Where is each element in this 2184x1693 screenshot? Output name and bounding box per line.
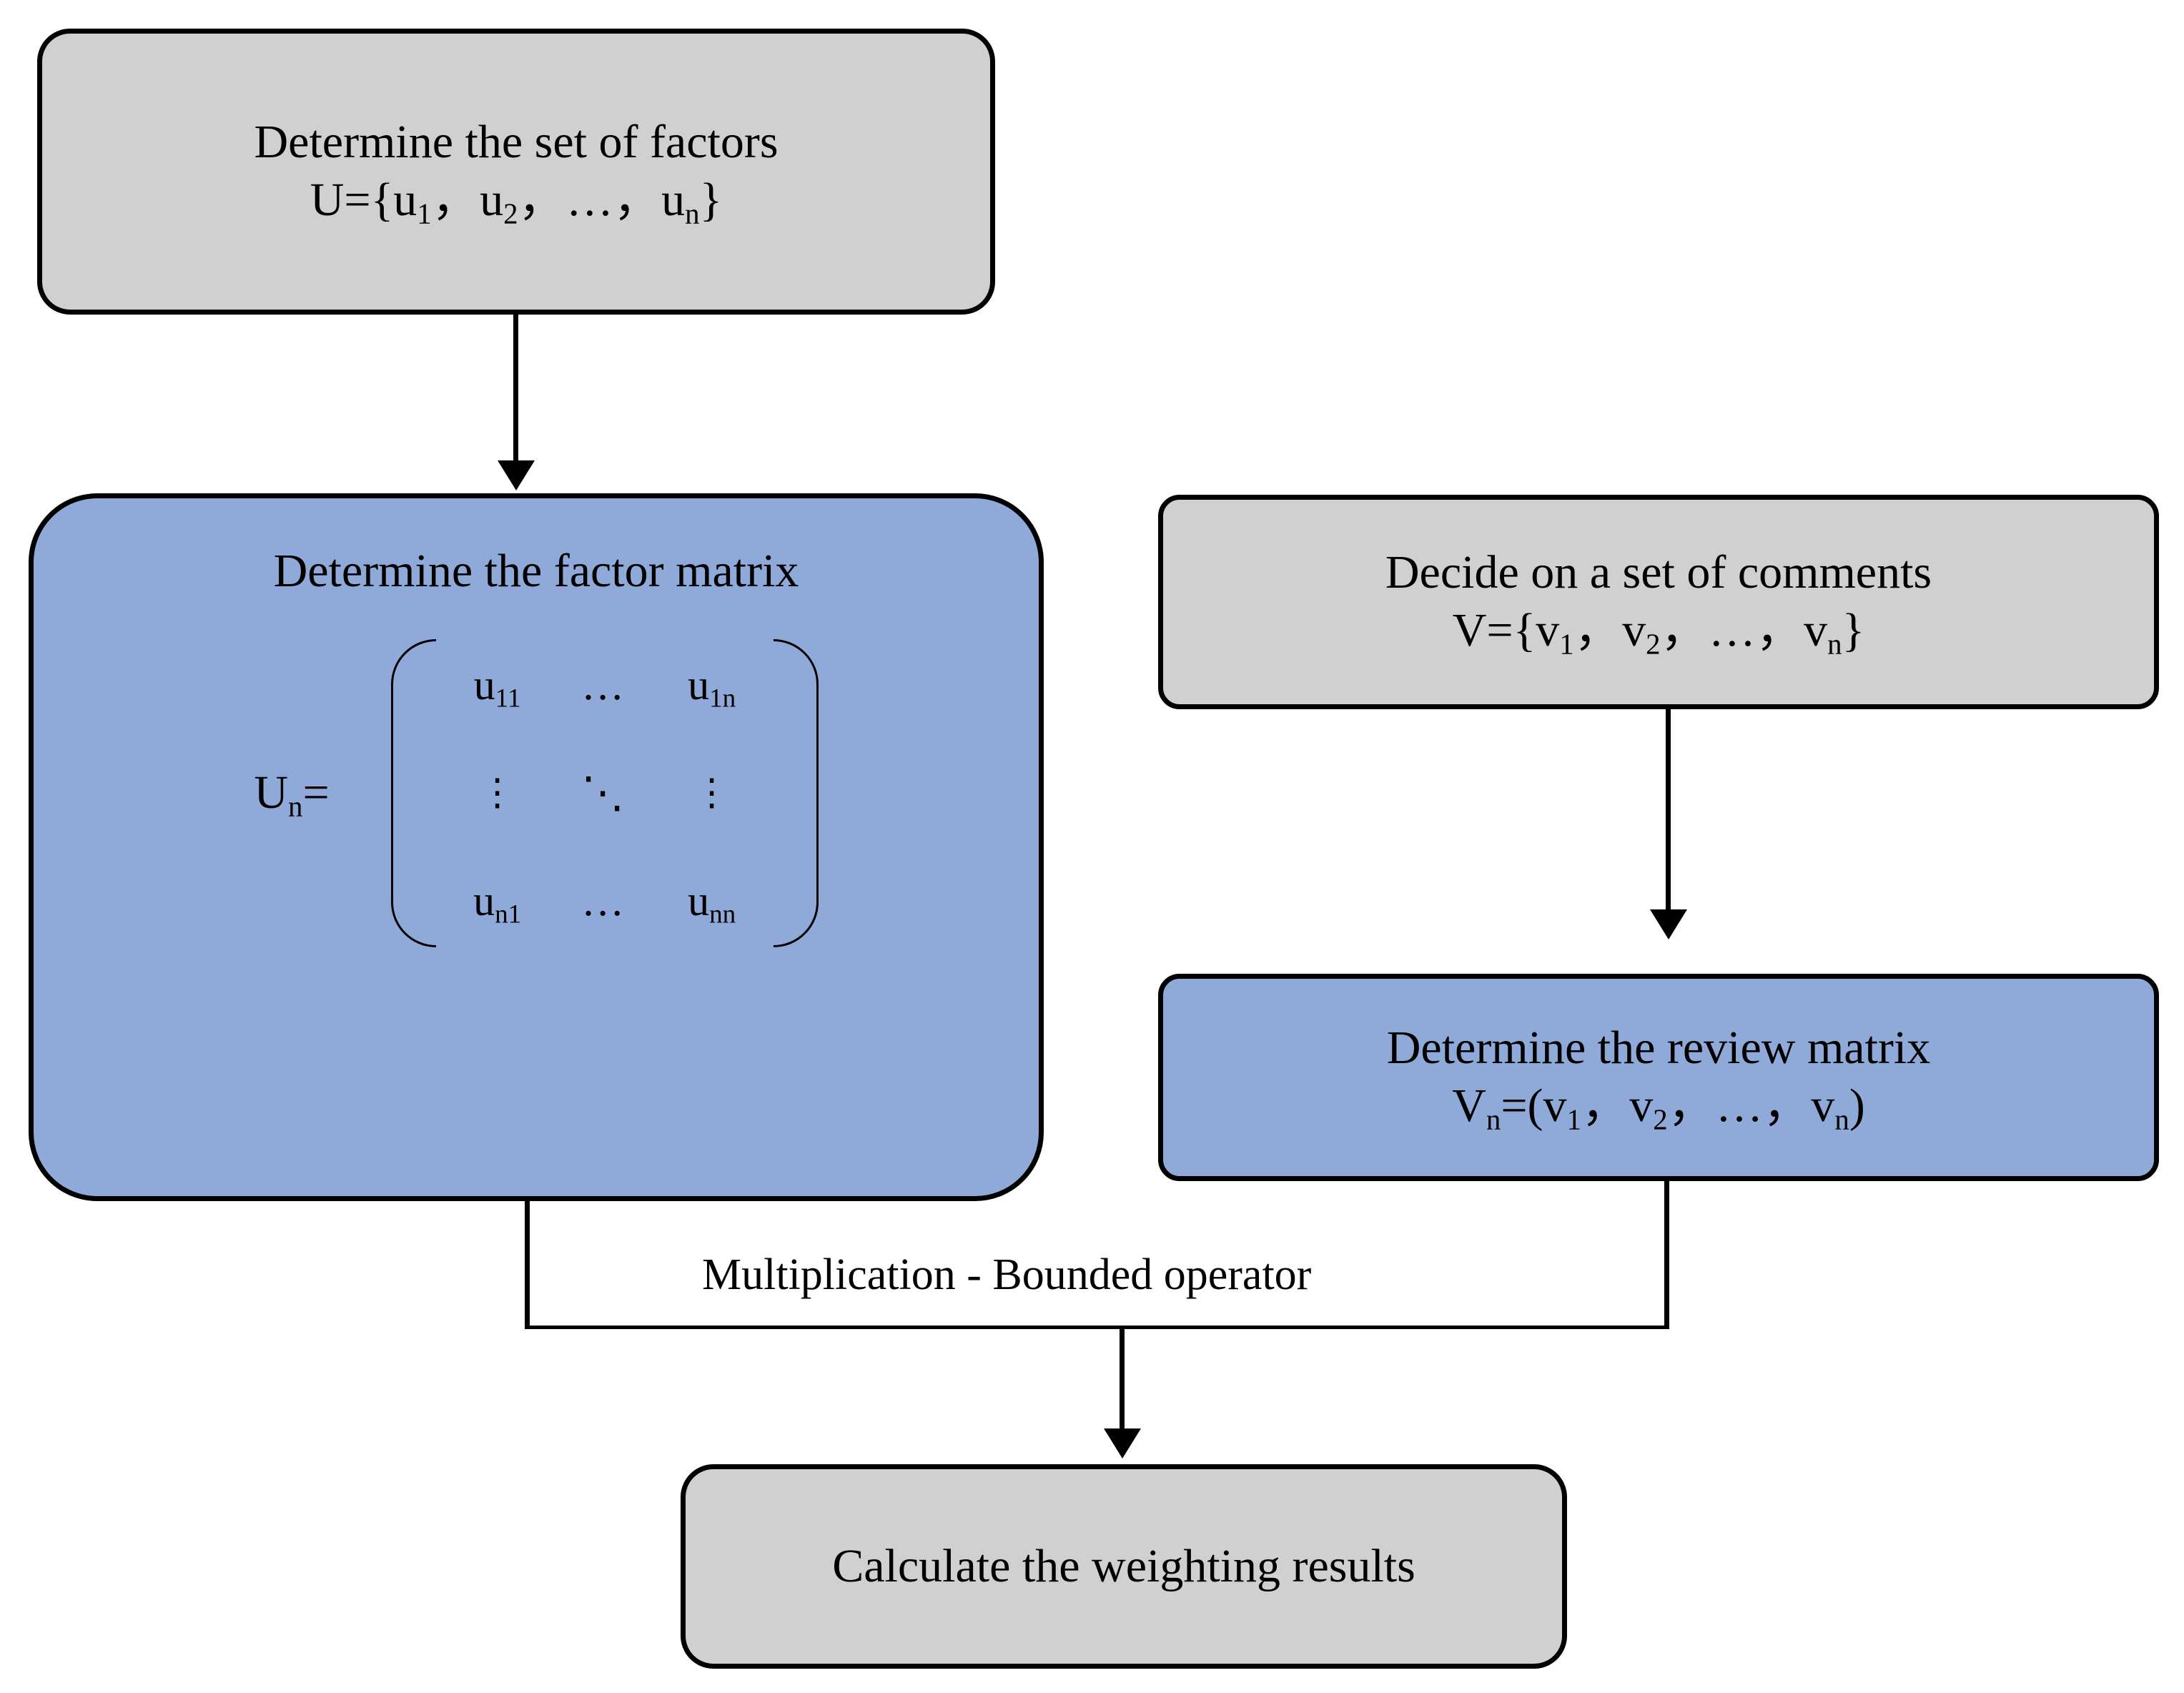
- factor-matrix-expression: Un= u11 … u1n ⋮ ⋱ ⋮ un1 … unn: [34, 639, 1039, 948]
- edge-merge-label: Multiplication - Bounded operator: [692, 1250, 1321, 1300]
- matrix-cell-r3c1: un1: [444, 875, 551, 927]
- edge-review-matrix-drop-line: [1664, 1177, 1669, 1328]
- matrix-cell-r3c3: unn: [658, 875, 766, 927]
- node-determine-factor-matrix[interactable]: Determine the factor matrix Un= u11 … u1…: [29, 493, 1044, 1201]
- edge-factors-to-factor-matrix-arrowhead: [498, 460, 535, 490]
- node-calculate-weighting-results[interactable]: Calculate the weighting results: [681, 1464, 1567, 1669]
- matrix-bracket: u11 … u1n ⋮ ⋱ ⋮ un1 … unn: [391, 639, 819, 948]
- matrix-row: u11 … u1n: [444, 659, 766, 711]
- matrix-row: ⋮ ⋱ ⋮: [444, 767, 766, 819]
- matrix-cell-r1c1: u11: [444, 659, 551, 711]
- node-decide-set-of-comments[interactable]: Decide on a set of comments V={v1， v2， ……: [1158, 495, 2159, 709]
- edge-comments-to-review-matrix-arrowhead: [1650, 909, 1687, 939]
- node-factor-matrix-title: Determine the factor matrix: [274, 543, 799, 601]
- node-comments-formula: V={v1， v2， …， vn}: [1453, 602, 1865, 660]
- node-factors-title: Determine the set of factors: [254, 114, 778, 172]
- matrix-cell-r2c1: ⋮: [444, 771, 551, 816]
- node-comments-title: Decide on a set of comments: [1385, 544, 1932, 602]
- edge-merge-horizontal-line: [525, 1326, 1669, 1329]
- matrix-cell-r1c3: u1n: [658, 659, 766, 711]
- flowchart-canvas: Determine the set of factors U={u1， u2， …: [0, 0, 2184, 1693]
- node-determine-review-matrix[interactable]: Determine the review matrix Vn=(v1， v2， …: [1158, 974, 2159, 1181]
- node-review-matrix-formula: Vn=(v1， v2， …， vn): [1452, 1077, 1865, 1135]
- node-determine-set-of-factors[interactable]: Determine the set of factors U={u1， u2， …: [37, 29, 995, 315]
- edge-merge-to-results-arrowhead: [1104, 1428, 1141, 1458]
- matrix-cell-r1c2: …: [551, 659, 658, 711]
- node-results-title: Calculate the weighting results: [832, 1538, 1415, 1596]
- edge-merge-to-results-line: [1120, 1326, 1125, 1433]
- node-review-matrix-title: Determine the review matrix: [1387, 1020, 1931, 1077]
- edge-factors-to-factor-matrix-line: [513, 315, 518, 466]
- matrix-cell-r2c2: ⋱: [551, 767, 658, 819]
- edge-comments-to-review-matrix-line: [1666, 709, 1671, 915]
- matrix-label: Un=: [254, 764, 329, 822]
- matrix-cell-r3c2: …: [551, 875, 658, 927]
- matrix-cell-r2c3: ⋮: [658, 771, 766, 816]
- edge-factor-matrix-drop-line: [525, 1197, 530, 1328]
- node-factors-formula: U={u1， u2， …， un}: [310, 172, 723, 229]
- matrix-row: un1 … unn: [444, 875, 766, 927]
